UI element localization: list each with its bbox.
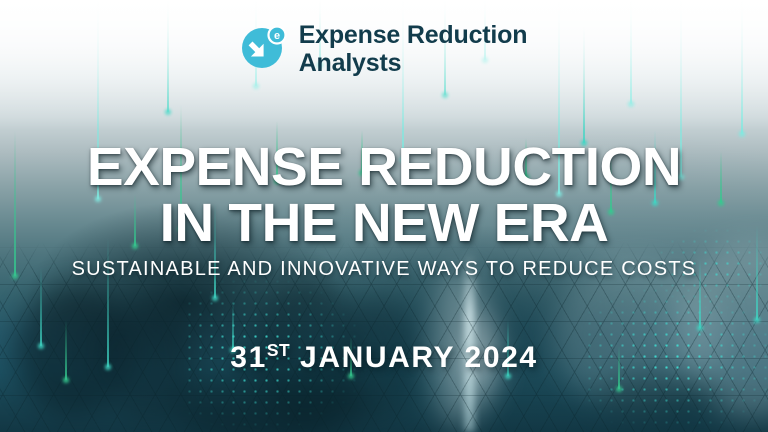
event-banner: e Expense Reduction Analysts EXPENSE RED… bbox=[0, 0, 768, 432]
expense-reduction-analysts-arrow-circle-icon: e bbox=[241, 24, 287, 70]
brand-name: Expense Reduction Analysts bbox=[299, 22, 528, 77]
brand-name-line-2: Analysts bbox=[299, 50, 528, 77]
event-date: 31ST JANUARY 2024 bbox=[0, 340, 768, 375]
event-date-month-year: JANUARY 2024 bbox=[300, 341, 538, 374]
event-date-day: 31 bbox=[230, 341, 267, 374]
event-subtitle: SUSTAINABLE AND INNOVATIVE WAYS TO REDUC… bbox=[0, 258, 768, 281]
headline-line-1: EXPENSE REDUCTION bbox=[0, 142, 768, 194]
event-headline: EXPENSE REDUCTION IN THE NEW ERA bbox=[0, 142, 768, 250]
event-date-ordinal-suffix: ST bbox=[267, 340, 290, 360]
banner-content: e Expense Reduction Analysts EXPENSE RED… bbox=[0, 0, 768, 432]
brand-name-line-1: Expense Reduction bbox=[299, 22, 528, 49]
brand-logo: e Expense Reduction Analysts bbox=[0, 22, 768, 77]
headline-line-2: IN THE NEW ERA bbox=[0, 198, 768, 250]
svg-text:e: e bbox=[274, 30, 280, 42]
